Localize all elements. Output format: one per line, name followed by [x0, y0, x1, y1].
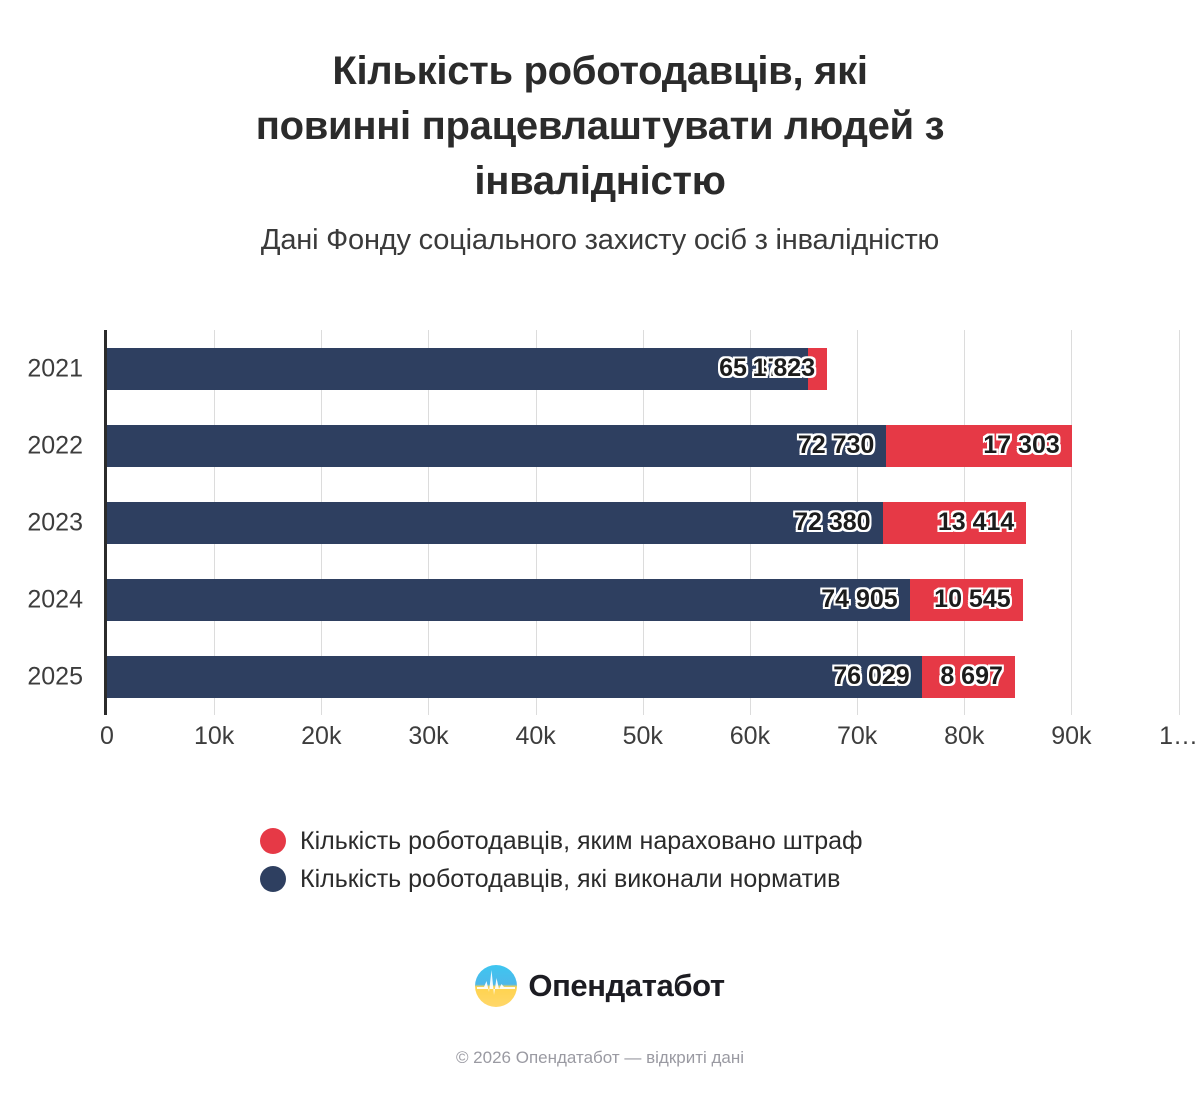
x-axis-tick-label: 10k [194, 722, 234, 751]
x-axis-tick-label: 30k [408, 722, 448, 751]
x-axis-tick-label: 80k [944, 722, 984, 751]
bar-segment-norm[interactable]: 65 378 [107, 348, 808, 390]
bar-value-label: 72 380 [794, 508, 882, 537]
bar-segment-fine[interactable]: 10 545 [910, 579, 1023, 621]
x-axis-tick-label: 1… [1159, 722, 1198, 751]
plot-area: 65 3781 82372 73017 30372 38013 41474 90… [107, 330, 1200, 715]
bar-value-label: 74 905 [821, 585, 909, 614]
legend-item[interactable]: Кількість роботодавців, які виконали нор… [260, 860, 980, 898]
chart-legend: Кількість роботодавців, яким нараховано … [0, 822, 1200, 898]
bar-row: 65 3781 823 [107, 348, 1200, 390]
x-axis-tick-label: 70k [837, 722, 877, 751]
bar-value-label: 17 303 [983, 431, 1071, 460]
page-title-line-2: повинні працевлаштувати людей з [150, 99, 1050, 154]
legend-label: Кількість роботодавців, які виконали нор… [300, 865, 840, 894]
page-title-line-1: Кількість роботодавців, які [150, 44, 1050, 99]
bar-segment-norm[interactable]: 76 029 [107, 656, 922, 698]
bar-row: 72 73017 303 [107, 425, 1200, 467]
bar-value-label: 76 029 [833, 662, 921, 691]
page-title: Кількість роботодавців, які повинні прац… [150, 44, 1050, 210]
y-axis-tick-label: 2024 [27, 585, 83, 614]
bar-segment-norm[interactable]: 74 905 [107, 579, 910, 621]
x-axis: 010k20k30k40k50k60k70k80k90k1… [107, 722, 1200, 762]
page-title-line-3: інвалідністю [150, 154, 1050, 209]
legend-item[interactable]: Кількість роботодавців, яким нараховано … [260, 822, 980, 860]
chart-plot: 20212022202320242025 65 3781 82372 73017… [0, 330, 1200, 720]
x-axis-tick-label: 40k [515, 722, 555, 751]
copyright-text: © 2026 Опендатабот — відкриті дані [0, 1048, 1200, 1068]
brand-name: Опендатабот [528, 968, 724, 1004]
chart-page: Кількість роботодавців, які повинні прац… [0, 0, 1200, 1100]
legend-items: Кількість роботодавців, яким нараховано … [220, 822, 980, 898]
legend-swatch-icon [260, 866, 286, 892]
bar-value-label: 13 414 [938, 508, 1026, 537]
y-axis: 20212022202320242025 [0, 330, 95, 715]
y-axis-tick-label: 2023 [27, 508, 83, 537]
x-axis-tick-label: 0 [100, 722, 114, 751]
y-axis-tick-label: 2022 [27, 431, 83, 460]
bar-segment-norm[interactable]: 72 380 [107, 502, 883, 544]
x-axis-tick-label: 50k [623, 722, 663, 751]
bar-row: 72 38013 414 [107, 502, 1200, 544]
x-axis-tick-label: 60k [730, 722, 770, 751]
bar-value-label: 1 823 [753, 354, 828, 383]
bar-value-label: 72 730 [798, 431, 886, 460]
x-axis-tick-label: 90k [1051, 722, 1091, 751]
title-block: Кількість роботодавців, які повинні прац… [0, 44, 1200, 257]
bar-segment-fine[interactable]: 17 303 [886, 425, 1071, 467]
bar-segment-fine[interactable]: 8 697 [922, 656, 1015, 698]
bar-row: 74 90510 545 [107, 579, 1200, 621]
y-axis-tick-label: 2021 [27, 354, 83, 383]
bar-value-label: 8 697 [940, 662, 1015, 691]
bar-segment-norm[interactable]: 72 730 [107, 425, 886, 467]
legend-label: Кількість роботодавців, яким нараховано … [300, 827, 863, 856]
y-axis-tick-label: 2025 [27, 662, 83, 691]
bar-segment-fine[interactable]: 1 823 [808, 348, 828, 390]
page-subtitle: Дані Фонду соціального захисту осіб з ін… [0, 224, 1200, 257]
bar-row: 76 0298 697 [107, 656, 1200, 698]
bar-value-label: 10 545 [934, 585, 1022, 614]
legend-swatch-icon [260, 828, 286, 854]
x-axis-tick-label: 20k [301, 722, 341, 751]
bar-segment-fine[interactable]: 13 414 [883, 502, 1027, 544]
brand-block: Опендатабот [0, 965, 1200, 1007]
opendatabot-logo-icon [475, 965, 517, 1007]
